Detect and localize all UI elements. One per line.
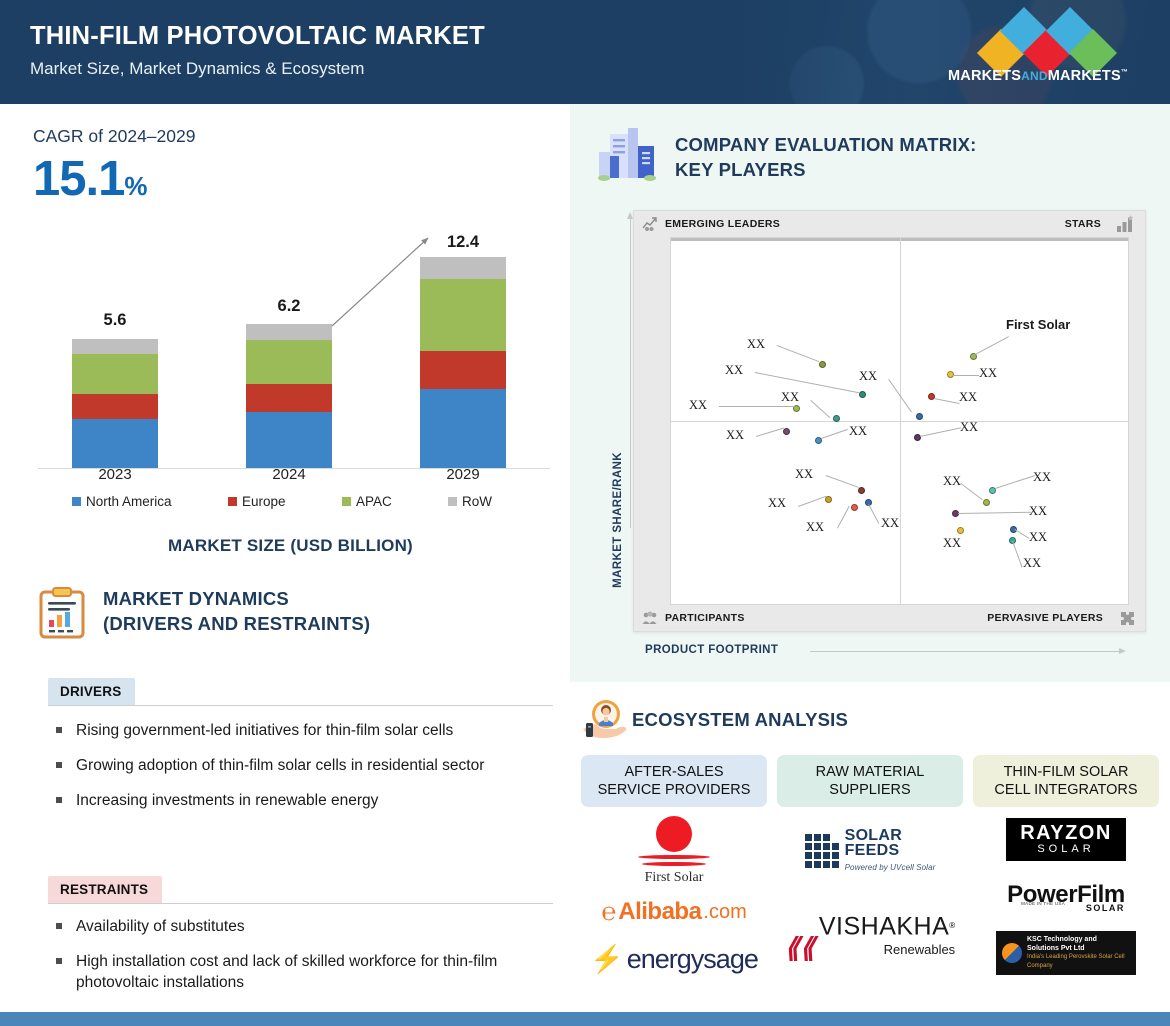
matrix-leader-line xyxy=(934,398,960,404)
legend-swatch-europe xyxy=(228,497,237,506)
alibaba-logo-text: Alibaba xyxy=(618,898,701,926)
company-matrix-heading-line2: KEY PLAYERS xyxy=(675,157,977,182)
company-evaluation-matrix: EMERGING LEADERS STARS PARTICIPANTS PERV… xyxy=(633,210,1146,632)
legend-label-europe: Europe xyxy=(242,494,286,509)
matrix-point-label: XX xyxy=(881,516,899,531)
person-hand-icon xyxy=(581,699,629,745)
logo-diamonds-icon xyxy=(948,18,1124,66)
matrix-leader-line xyxy=(756,428,784,437)
legend-label-row: RoW xyxy=(462,494,492,509)
ecosystem-logo-powerfilm: PowerFilm MADE IN THE USA SOLAR xyxy=(973,871,1159,923)
matrix-point-label: XX xyxy=(943,536,961,551)
matrix-point-label: XX xyxy=(726,428,744,443)
vishakha-logo-sub: Renewables xyxy=(819,938,955,962)
page-header: THIN-FILM PHOTOVOLTAIC MARKET Market Siz… xyxy=(0,0,1170,104)
matrix-point[interactable] xyxy=(783,428,790,435)
matrix-leader-line xyxy=(755,372,859,393)
ecosystem-logo-first-solar: First Solar xyxy=(581,815,767,887)
matrix-leader-line xyxy=(920,427,961,437)
matrix-point-label: XX xyxy=(781,390,799,405)
solar-feeds-tagline: Powered by UVcell Solar xyxy=(845,860,936,875)
rayzon-logo-line2: SOLAR xyxy=(1020,843,1112,856)
buildings-icon xyxy=(596,126,658,182)
quadrant-label-pervasive-players: PERVASIVE PLAYERS xyxy=(987,612,1103,624)
legend-item-apac: APAC xyxy=(342,494,392,509)
drivers-list-item: Growing adoption of thin-film solar cell… xyxy=(54,755,559,776)
matrix-point[interactable] xyxy=(825,496,832,503)
logo-wordmark: MARKETSANDMARKETS™ xyxy=(948,68,1124,84)
restraints-list-item: Availability of substitutes xyxy=(54,916,559,937)
matrix-horizontal-divider xyxy=(671,421,1128,422)
drivers-list-item: Rising government-led initiatives for th… xyxy=(54,720,559,741)
bar-total-label-2029: 12.4 xyxy=(403,233,523,252)
x-label-2023: 2023 xyxy=(60,466,170,483)
bar-column-2024: 6.2 xyxy=(246,324,332,468)
bar-segment-europe-2029 xyxy=(420,351,506,389)
first-solar-wave-icon xyxy=(638,855,710,859)
matrix-point-label: XX xyxy=(725,363,743,378)
bar-column-2029: 12.4 xyxy=(420,257,506,468)
bar-segment-apac-2023 xyxy=(72,354,158,394)
bar-total-label-2024: 6.2 xyxy=(229,297,349,316)
matrix-leader-line xyxy=(953,375,979,376)
matrix-leader-line xyxy=(810,400,830,418)
bar-segment-europe-2023 xyxy=(72,394,158,419)
drivers-list: Rising government-led initiatives for th… xyxy=(54,720,559,825)
matrix-point[interactable] xyxy=(916,413,923,420)
drivers-tag: DRIVERS xyxy=(48,678,135,705)
bar-column-2023: 5.6 xyxy=(72,339,158,468)
x-label-2024: 2024 xyxy=(234,466,344,483)
matrix-top-bar: EMERGING LEADERS STARS xyxy=(634,211,1145,237)
ecosystem-heading: ECOSYSTEM ANALYSIS xyxy=(632,709,848,731)
chart-title: MARKET SIZE (USD BILLION) xyxy=(28,536,553,556)
matrix-leader-line xyxy=(995,475,1035,489)
matrix-point-label: XX xyxy=(795,467,813,482)
ecosystem-logo-rayzon: RAYZON SOLAR xyxy=(973,815,1159,863)
marketsandmarkets-logo: MARKETSANDMARKETS™ xyxy=(948,18,1124,90)
matrix-leader-line xyxy=(837,506,850,529)
matrix-point[interactable] xyxy=(859,391,866,398)
legend-item-north-america: North America xyxy=(72,494,172,509)
matrix-point-label-first-solar: First Solar xyxy=(1006,317,1070,332)
matrix-point-label: XX xyxy=(859,369,877,384)
restraints-list-item: High installation cost and lack of skill… xyxy=(54,951,559,993)
page-title: THIN-FILM PHOTOVOLTAIC MARKET xyxy=(30,22,485,51)
legend-label-apac: APAC xyxy=(356,494,392,509)
matrix-point[interactable] xyxy=(983,499,990,506)
drivers-divider xyxy=(48,705,553,706)
restraints-divider xyxy=(48,903,553,904)
ksc-logo-line1: KSC Technology and Solutions Pvt Ltd xyxy=(1027,935,1130,953)
legend-swatch-row xyxy=(448,497,457,506)
ksc-badge-icon xyxy=(1002,943,1022,963)
quadrant-label-stars: STARS xyxy=(1065,218,1101,230)
company-matrix-heading-line1: COMPANY EVALUATION MATRIX: xyxy=(675,132,977,157)
legend-swatch-north-america xyxy=(72,497,81,506)
bar-segment-row-2023 xyxy=(72,339,158,354)
page-subtitle: Market Size, Market Dynamics & Ecosystem xyxy=(30,59,364,79)
bar-segment-north-america-2029 xyxy=(420,389,506,468)
emerging-leaders-icon xyxy=(642,216,658,232)
matrix-bottom-bar: PARTICIPANTS PERVASIVE PLAYERS xyxy=(634,605,1145,631)
clipboard-chart-icon xyxy=(38,587,86,639)
stars-bars-icon xyxy=(1116,215,1135,233)
vishakha-mark-icon: ⟪⟪ xyxy=(785,935,815,962)
matrix-point-label: XX xyxy=(1023,556,1041,571)
matrix-leader-line xyxy=(1014,529,1029,539)
first-solar-wave-icon xyxy=(642,862,706,866)
ecosystem-panel: ECOSYSTEM ANALYSIS AFTER-SALES SERVICE P… xyxy=(570,682,1170,1012)
ecosystem-logo-solar-feeds: SOLAR FEEDS Powered by UVcell Solar xyxy=(777,819,963,883)
rayzon-logo-line1: RAYZON xyxy=(1020,823,1112,843)
matrix-point-label: XX xyxy=(689,398,707,413)
bar-segment-europe-2024 xyxy=(246,384,332,412)
matrix-x-axis-arrow xyxy=(810,651,1120,652)
ecosystem-col2-line1: RAW MATERIAL xyxy=(816,764,925,780)
matrix-point-label: XX xyxy=(960,420,978,435)
bar-segment-north-america-2024 xyxy=(246,412,332,468)
matrix-point[interactable] xyxy=(819,361,826,368)
solar-feeds-panel-icon xyxy=(805,834,839,868)
ecosystem-col-header-raw-material: RAW MATERIAL SUPPLIERS xyxy=(777,755,963,807)
alibaba-logo-tld: .com xyxy=(703,901,746,924)
bar-segment-north-america-2023 xyxy=(72,419,158,468)
ecosystem-col2-line2: SUPPLIERS xyxy=(829,782,910,798)
cagr-label: CAGR of 2024–2029 xyxy=(33,126,195,147)
market-dynamics-heading-line1: MARKET DYNAMICS xyxy=(103,586,370,611)
cagr-number: 15.1 xyxy=(33,152,124,206)
bar-segment-apac-2024 xyxy=(246,340,332,384)
matrix-point-label: XX xyxy=(959,390,977,405)
pervasive-players-puzzle-icon xyxy=(1119,610,1136,627)
legend-swatch-apac xyxy=(342,497,351,506)
matrix-leader-line xyxy=(868,504,879,524)
market-dynamics-heading: MARKET DYNAMICS (DRIVERS AND RESTRAINTS) xyxy=(103,586,370,636)
matrix-point-label: XX xyxy=(979,366,997,381)
matrix-point[interactable] xyxy=(833,415,840,422)
matrix-leader-line xyxy=(975,336,1009,355)
x-label-2029: 2029 xyxy=(408,466,518,483)
matrix-leader-line xyxy=(821,429,848,439)
first-solar-sun-icon xyxy=(656,816,692,852)
matrix-y-axis-arrow xyxy=(630,218,631,528)
ecosystem-logo-energysage: ⚡ energysage xyxy=(581,937,767,981)
ecosystem-col1-line2: SERVICE PROVIDERS xyxy=(598,782,751,798)
matrix-x-axis-label: PRODUCT FOOTPRINT xyxy=(645,644,778,656)
bar-segment-row-2024 xyxy=(246,324,332,340)
company-evaluation-panel: COMPANY EVALUATION MATRIX: KEY PLAYERS E… xyxy=(570,104,1170,682)
ecosystem-col3-line2: CELL INTEGRATORS xyxy=(994,782,1137,798)
matrix-leader-line xyxy=(777,345,819,362)
matrix-point-label: XX xyxy=(1033,470,1051,485)
vishakha-logo-text: VISHAKHA xyxy=(819,912,949,940)
restraints-tag: RESTRAINTS xyxy=(48,876,162,903)
matrix-point-label: XX xyxy=(747,337,765,352)
company-matrix-heading: COMPANY EVALUATION MATRIX: KEY PLAYERS xyxy=(675,132,977,182)
matrix-point[interactable] xyxy=(858,487,865,494)
bar-total-label-2023: 5.6 xyxy=(55,311,175,330)
matrix-leader-line xyxy=(719,406,795,407)
ecosystem-col3-line1: THIN-FILM SOLAR xyxy=(1004,764,1129,780)
matrix-leader-line xyxy=(1012,541,1023,568)
cagr-value: 15.1% xyxy=(33,151,147,207)
matrix-point[interactable] xyxy=(851,504,858,511)
matrix-point-label: XX xyxy=(1029,530,1047,545)
chart-legend: North America Europe APAC RoW xyxy=(28,494,553,516)
matrix-point-label: XX xyxy=(849,424,867,439)
participants-icon xyxy=(642,610,658,626)
ecosystem-logo-alibaba: ℮ Alibaba .com xyxy=(581,891,767,933)
matrix-leader-line xyxy=(960,483,982,500)
ecosystem-logo-ksc: KSC Technology and Solutions Pvt Ltd Ind… xyxy=(973,933,1159,973)
legend-label-north-america: North America xyxy=(86,494,172,509)
matrix-point-label: XX xyxy=(768,496,786,511)
quadrant-label-participants: PARTICIPANTS xyxy=(665,612,745,624)
market-dynamics-heading-line2: (DRIVERS AND RESTRAINTS) xyxy=(103,611,370,636)
matrix-plot-area: XX XX XX XX XX XX First Solar XX xyxy=(670,237,1129,605)
ksc-logo-line2: India's Leading Perovskite Solar Cell Co… xyxy=(1027,953,1130,971)
drivers-list-item: Increasing investments in renewable ener… xyxy=(54,790,559,811)
matrix-point-label: XX xyxy=(943,474,961,489)
matrix-point[interactable] xyxy=(957,527,964,534)
bar-segment-row-2029 xyxy=(420,257,506,279)
first-solar-logo-text: First Solar xyxy=(638,870,710,886)
solar-feeds-logo-line2: FEEDS xyxy=(845,843,936,858)
chart-x-axis-labels: 2023 2024 2029 xyxy=(28,466,553,490)
left-column: CAGR of 2024–2029 15.1% 5.6 6.2 12.4 xyxy=(0,104,570,1012)
matrix-leader-line xyxy=(826,475,859,488)
energysage-logo-text: energysage xyxy=(627,944,758,975)
ecosystem-column-headers: AFTER-SALES SERVICE PROVIDERS RAW MATERI… xyxy=(581,755,1163,807)
alibaba-mark-icon: ℮ xyxy=(601,898,616,927)
energysage-bolt-icon: ⚡ xyxy=(590,943,624,975)
bar-segment-apac-2029 xyxy=(420,279,506,351)
quadrant-label-emerging-leaders: EMERGING LEADERS xyxy=(665,218,780,230)
ecosystem-col1-line1: AFTER-SALES xyxy=(624,764,723,780)
solar-feeds-logo-line1: SOLAR xyxy=(845,828,936,843)
legend-item-row: RoW xyxy=(448,494,492,509)
matrix-y-axis-label: MARKET SHARE/RANK xyxy=(612,452,624,588)
ecosystem-col-header-after-sales: AFTER-SALES SERVICE PROVIDERS xyxy=(581,755,767,807)
footer-accent-bar xyxy=(0,1012,1170,1026)
ecosystem-logo-grid: First Solar ℮ Alibaba .com ⚡ energysage xyxy=(581,815,1163,1000)
restraints-list: Availability of substitutes High install… xyxy=(54,916,559,1007)
legend-item-europe: Europe xyxy=(228,494,286,509)
matrix-point-label: XX xyxy=(806,520,824,535)
matrix-point-label: XX xyxy=(1029,504,1047,519)
ecosystem-col-header-cell-integrators: THIN-FILM SOLAR CELL INTEGRATORS xyxy=(973,755,1159,807)
market-size-bar-chart: 5.6 6.2 12.4 xyxy=(28,214,553,469)
cagr-percent-sign: % xyxy=(124,171,146,201)
matrix-leader-line xyxy=(958,512,1031,514)
ecosystem-logo-vishakha: ⟪⟪ VISHAKHA® Renewables xyxy=(777,907,963,969)
matrix-leader-line xyxy=(798,496,827,507)
